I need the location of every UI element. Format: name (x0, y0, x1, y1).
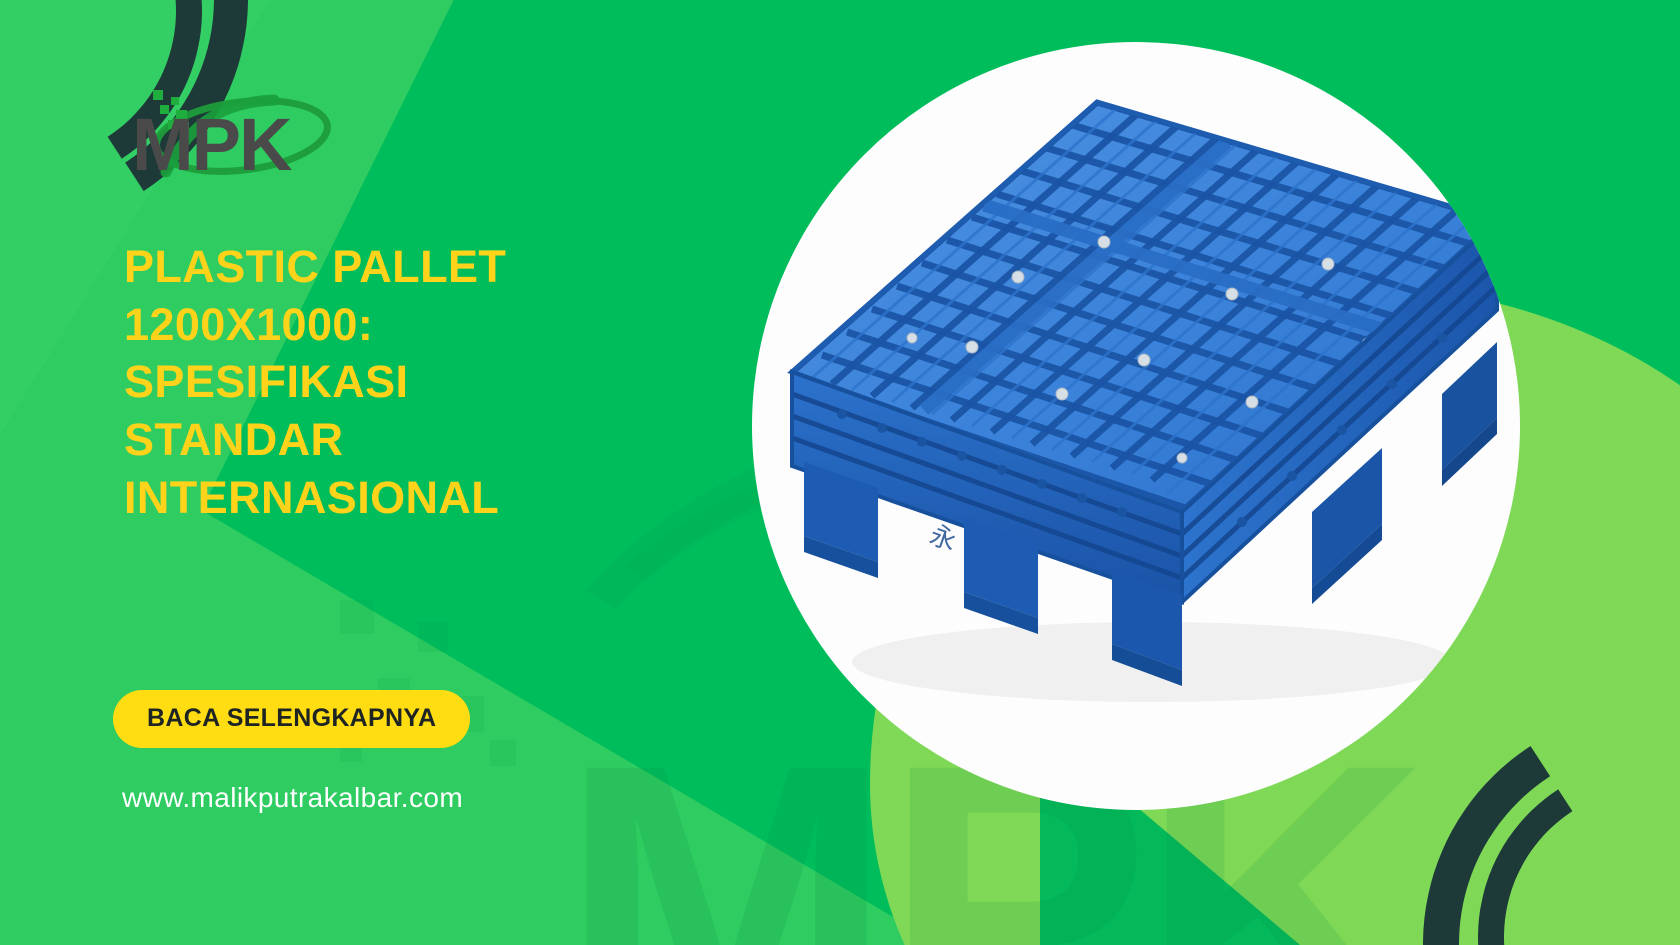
pallet-stamp: 永 (926, 520, 960, 557)
plastic-pallet-image: 永 (752, 42, 1520, 810)
mpk-logo[interactable]: MPK (124, 84, 354, 184)
title-line-5: INTERNASIONAL (124, 469, 684, 527)
title-line-4: STANDAR (124, 411, 684, 469)
title-line-3: SPESIFIKASI (124, 353, 684, 411)
read-more-button[interactable]: BACA SELENGKAPNYA (113, 690, 470, 748)
title-line-2: 1200X1000: (124, 296, 684, 354)
banner-canvas: MPK MPK (0, 0, 1680, 945)
page-title: PLASTIC PALLET 1200X1000: SPESIFIKASI ST… (124, 238, 684, 526)
logo-wordmark: MPK (132, 103, 292, 184)
website-url: www.malikputrakalbar.com (122, 782, 463, 814)
title-line-1: PLASTIC PALLET (124, 238, 684, 296)
product-image-circle: 永 (752, 42, 1520, 810)
